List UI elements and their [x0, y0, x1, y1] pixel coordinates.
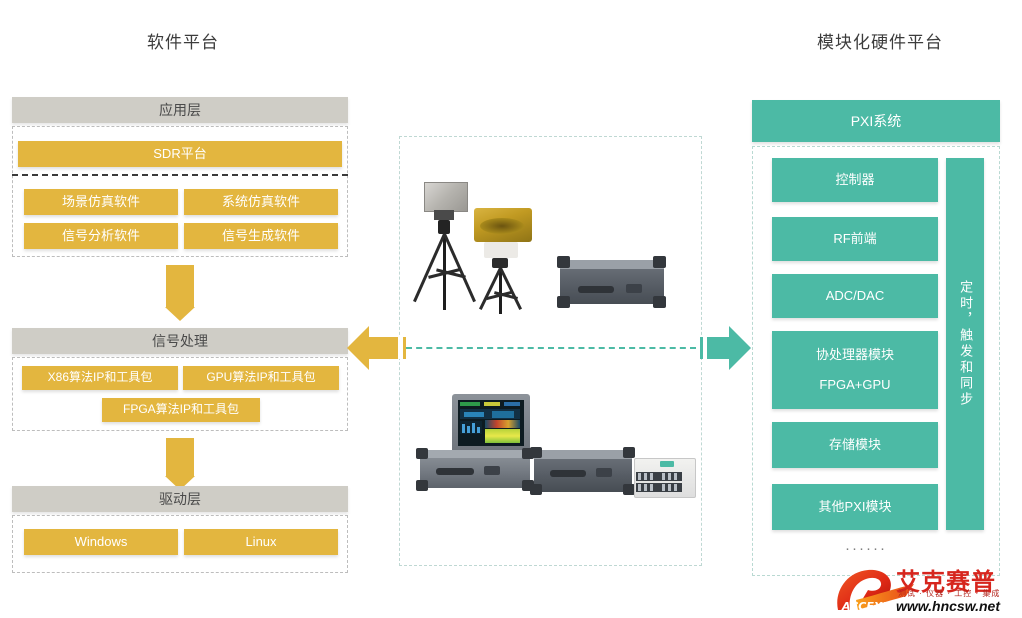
portable-case-image [556, 252, 672, 322]
more-modules-ellipsis: ······ [845, 540, 887, 557]
arrow-software-to-hardware-shaft [707, 337, 729, 359]
box-x86-algorithm-ip[interactable]: X86算法IP和工具包 [22, 366, 178, 390]
divider-dashdot [12, 174, 348, 176]
module-coprocessor-sublabel: FPGA+GPU [819, 377, 890, 393]
page-title-software: 软件平台 [108, 28, 258, 53]
module-storage-label: 存储模块 [829, 437, 881, 453]
company-logo: ACCEXP 艾克赛普 测试 · 仪器 · 工控 · 集成 www.hncsw.… [828, 562, 1022, 616]
rugged-laptop-and-cases-image [410, 392, 696, 522]
module-adc-dac[interactable]: ADC/DAC [772, 274, 938, 318]
box-gpu-algorithm-ip[interactable]: GPU算法IP和工具包 [183, 366, 339, 390]
arrow-hardware-to-software-shaft [369, 337, 401, 359]
svg-text:ACCEXP: ACCEXP [841, 600, 890, 613]
box-signal-generation-software[interactable]: 信号生成软件 [184, 223, 338, 249]
timing-trigger-sync-label: 定时，触发和同步 [958, 280, 972, 408]
timing-trigger-sync-bar[interactable]: 定时，触发和同步 [946, 158, 984, 530]
module-controller[interactable]: 控制器 [772, 158, 938, 202]
antenna-tripods-image [410, 180, 570, 320]
arrow-application-to-signal-shaft [166, 265, 194, 307]
box-system-simulation-software[interactable]: 系统仿真软件 [184, 189, 338, 215]
layer-header-driver: 驱动层 [12, 486, 348, 512]
bidirectional-dashed-link [406, 347, 696, 349]
box-linux[interactable]: Linux [184, 529, 338, 555]
arrow-signal-to-driver-shaft [166, 438, 194, 476]
arrow-tick-teal-1 [700, 337, 703, 359]
box-sdr-platform[interactable]: SDR平台 [18, 141, 342, 167]
module-adc-dac-label: ADC/DAC [826, 288, 885, 304]
module-rf-frontend-label: RF前端 [833, 231, 876, 247]
module-other-pxi-label: 其他PXI模块 [819, 499, 892, 515]
logo-website-url: www.hncsw.net [896, 598, 1000, 614]
box-signal-analysis-software[interactable]: 信号分析软件 [24, 223, 178, 249]
module-coprocessor-label: 协处理器模块 [816, 347, 894, 363]
arrow-hardware-to-software-head [347, 326, 369, 370]
arrow-software-to-hardware-head [729, 326, 751, 370]
arrow-tick-gold-1 [398, 337, 401, 359]
module-storage[interactable]: 存储模块 [772, 422, 938, 468]
box-windows[interactable]: Windows [24, 529, 178, 555]
box-scene-simulation-software[interactable]: 场景仿真软件 [24, 189, 178, 215]
box-fpga-algorithm-ip[interactable]: FPGA算法IP和工具包 [102, 398, 260, 422]
pxi-system-header: PXI系统 [752, 100, 1000, 142]
diagram-canvas: 软件平台 模块化硬件平台 应用层 SDR平台 场景仿真软件 系统仿真软件 信号分… [0, 0, 1022, 618]
module-coprocessor[interactable]: 协处理器模块 FPGA+GPU [772, 331, 938, 409]
module-controller-label: 控制器 [835, 172, 874, 188]
page-title-hardware: 模块化硬件平台 [800, 28, 960, 53]
module-other-pxi[interactable]: 其他PXI模块 [772, 484, 938, 530]
layer-header-signal-processing: 信号处理 [12, 328, 348, 354]
layer-header-application: 应用层 [12, 97, 348, 123]
module-rf-frontend[interactable]: RF前端 [772, 217, 938, 261]
arrow-application-to-signal-head [165, 307, 195, 321]
